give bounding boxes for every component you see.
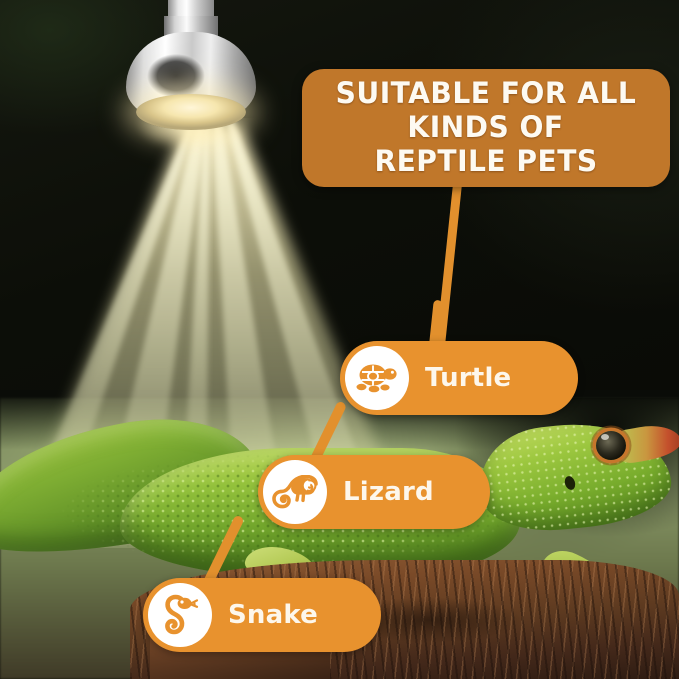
badge-icon-container-lizard: [263, 460, 327, 524]
chameleon-icon: [272, 475, 318, 509]
bulb-glowing-face: [136, 94, 246, 130]
headline-line-1: SUITABLE FOR ALL: [336, 77, 637, 111]
turtle-icon: [355, 361, 399, 395]
product-infographic: SUITABLE FOR ALL KINDS OF REPTILE PETS: [0, 0, 679, 679]
badge-icon-container-turtle: [345, 346, 409, 410]
badge-snake[interactable]: Snake: [143, 578, 381, 652]
badge-turtle[interactable]: Turtle: [340, 341, 578, 415]
badge-label-snake: Snake: [228, 600, 318, 630]
badge-label-turtle: Turtle: [425, 363, 511, 393]
headline-banner: SUITABLE FOR ALL KINDS OF REPTILE PETS: [302, 69, 670, 187]
heat-lamp-bulb: [118, 0, 264, 144]
headline-line-3: REPTILE PETS: [374, 145, 597, 179]
headline-line-2: KINDS OF: [408, 111, 564, 145]
badge-lizard[interactable]: Lizard: [258, 455, 490, 529]
badge-icon-container-snake: [148, 583, 212, 647]
badge-label-lizard: Lizard: [343, 477, 434, 507]
gecko-eye-highlight: [601, 434, 609, 440]
snake-icon: [160, 594, 200, 636]
